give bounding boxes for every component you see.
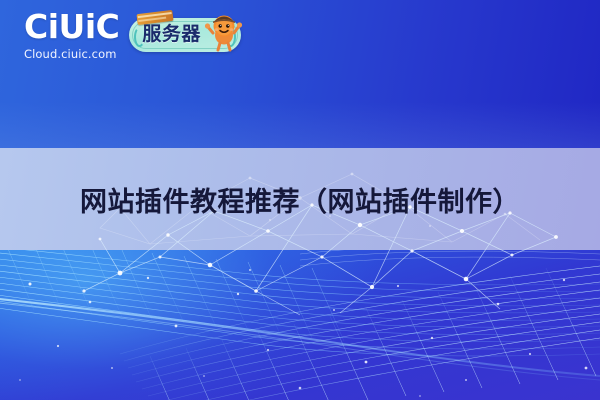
server-badge[interactable]: 服务器	[129, 18, 241, 52]
brand-name: CiUiC	[24, 10, 119, 43]
mesh-scene-background	[0, 250, 600, 400]
promo-banner: CiUiC Cloud.ciuic.com 服务器	[0, 0, 600, 400]
page-title: 网站插件教程推荐（网站插件制作）	[0, 186, 600, 220]
wireframe-wave-mesh	[0, 250, 600, 400]
badge-label: 服务器	[142, 24, 201, 45]
site-logo[interactable]: CiUiC Cloud.ciuic.com 服务器	[24, 10, 241, 60]
logo-text-group: CiUiC Cloud.ciuic.com	[24, 10, 119, 60]
orange-mascot-icon	[204, 11, 244, 53]
brand-domain: Cloud.ciuic.com	[24, 48, 117, 60]
